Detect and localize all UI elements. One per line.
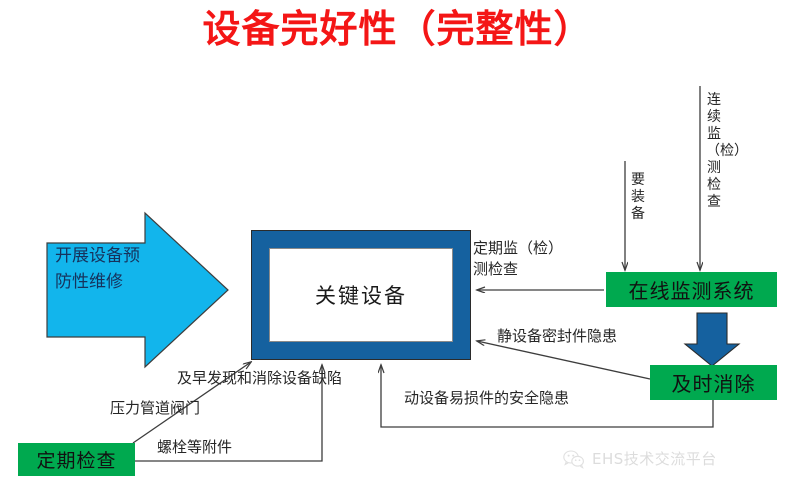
label-periodic-monitoring-line1: 定期监（检） xyxy=(473,238,593,259)
wechat-icon xyxy=(563,449,585,469)
page-title: 设备完好性（完整性） xyxy=(0,6,795,52)
label-equip-required: 要装备 xyxy=(630,172,646,223)
key-equipment-node: 关键设备 xyxy=(251,230,471,360)
blue-down-arrow xyxy=(685,313,739,366)
key-equipment-label: 关键设备 xyxy=(315,280,407,310)
watermark: EHS技术交流平台 xyxy=(563,448,717,469)
process-arrow-label-line1: 开展设备预 xyxy=(55,243,185,269)
process-arrow-label: 开展设备预 防性维修 xyxy=(55,243,185,295)
label-periodic-monitoring: 定期监（检） 测检查 xyxy=(473,238,593,280)
node-periodic-inspection: 定期检查 xyxy=(18,443,135,476)
node-online-monitoring: 在线监测系统 xyxy=(606,272,777,307)
label-bolts-accessories: 螺栓等附件 xyxy=(157,437,232,458)
node-timely-removal: 及时消除 xyxy=(650,365,777,400)
process-arrow-label-line2: 防性维修 xyxy=(55,269,185,295)
label-early-detection: 及早发现和消除设备缺陷 xyxy=(177,368,342,389)
watermark-text: EHS技术交流平台 xyxy=(592,448,717,469)
label-continuous-monitoring: 连续监（检）测检查 xyxy=(706,92,722,211)
label-pressure-pipe-valve: 压力管道阀门 xyxy=(110,398,200,419)
label-static-seal-hazard: 静设备密封件隐患 xyxy=(497,326,617,347)
diagram-canvas: 设备完好性（完整性） 开展设备预 防性维修 关键设备 在线监测系统 及时消除 定… xyxy=(0,0,795,487)
label-periodic-monitoring-line2: 测检查 xyxy=(473,259,593,280)
key-equipment-inner: 关键设备 xyxy=(269,248,453,342)
label-dynamic-wear-hazard: 动设备易损件的安全隐患 xyxy=(404,388,569,409)
